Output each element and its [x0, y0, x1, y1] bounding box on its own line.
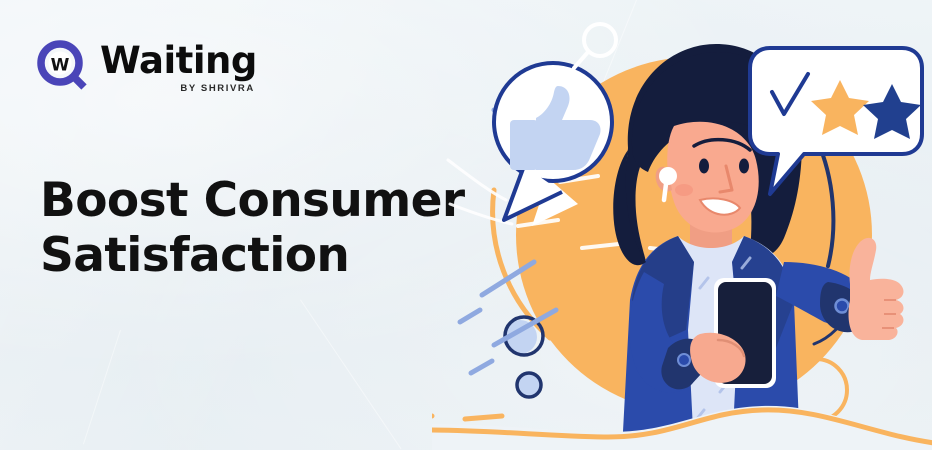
- cheek-blush: [675, 184, 693, 196]
- eye-right: [739, 159, 749, 174]
- texture-crease: [83, 330, 121, 444]
- blue-dash-accent: [460, 310, 480, 322]
- eye-left: [699, 159, 709, 174]
- sleeve-button-left: [678, 354, 690, 366]
- texture-crease: [300, 299, 401, 449]
- sleeve-button-right: [836, 300, 849, 313]
- brand-name: Waiting: [100, 42, 257, 79]
- thumbs-up-hand: [849, 238, 904, 340]
- search-glyph: [574, 24, 616, 68]
- brand-tagline: BY SHRIVRA: [180, 84, 254, 94]
- page-title: Boost Consumer Satisfaction: [40, 173, 465, 284]
- customer-satisfaction-illustration: [432, 0, 932, 450]
- brand-logo[interactable]: W Waiting BY SHRIVRA: [36, 40, 257, 96]
- magnifier-w-icon: W: [36, 40, 92, 96]
- svg-text:W: W: [51, 56, 70, 76]
- promo-banner: W Waiting BY SHRIVRA Boost Consumer Sati…: [0, 0, 932, 450]
- navy-ring-accent: [503, 317, 543, 355]
